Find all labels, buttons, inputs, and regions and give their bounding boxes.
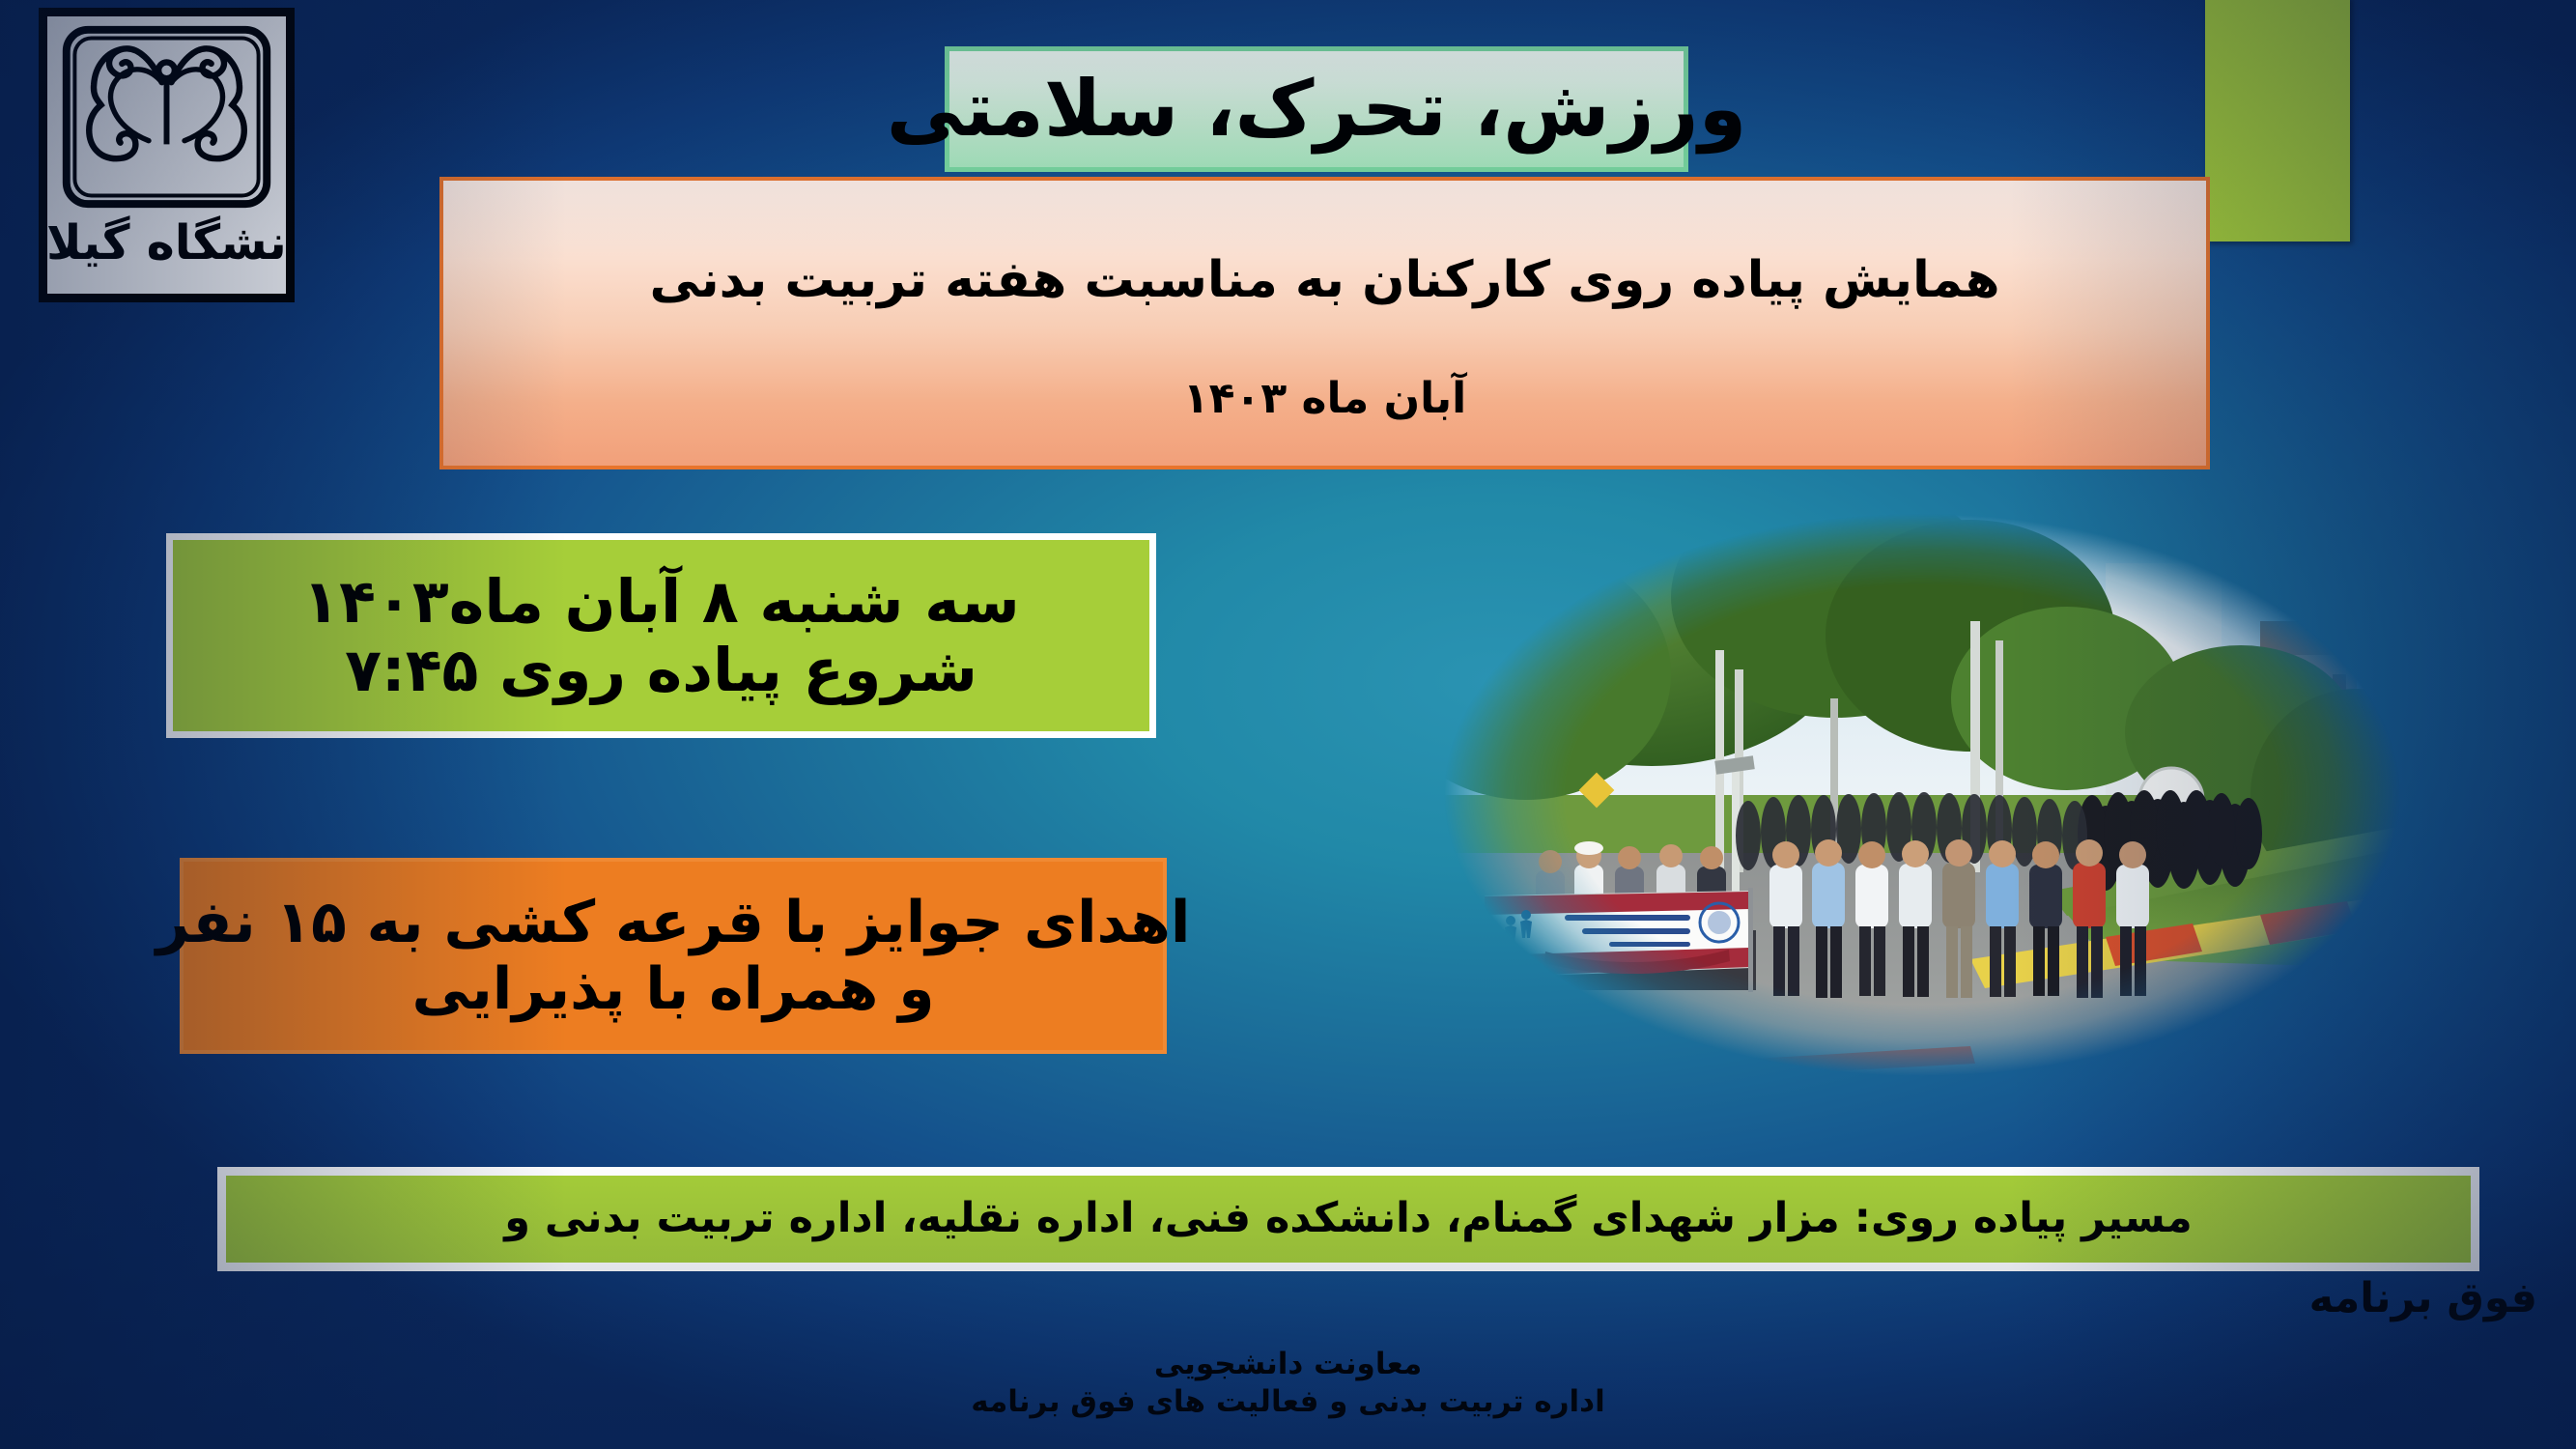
walking-rally-illustration — [1430, 505, 2415, 1085]
footer-office-line: اداره تربیت بدنی و فعالیت های فوق برنامه — [0, 1383, 2576, 1421]
headline-main-text: همایش پیاده روی کارکنان به مناسبت هفته ت… — [650, 253, 2000, 308]
logo-inner-frame: دانشگاه گیلان — [47, 16, 286, 294]
title-banner-text: ورزش، تحرک، سلامتی — [887, 71, 1747, 148]
poster-canvas: دانشگاه گیلان ورزش، تحرک، سلامتی همایش پ… — [0, 0, 2576, 1449]
footer: معاونت دانشجویی اداره تربیت بدنی و فعالی… — [0, 1346, 2576, 1421]
prize-refreshments-line: و همراه با پذیرایی — [412, 956, 935, 1023]
event-date-line: سه شنبه ۸ آبان ماه۱۴۰۳ — [302, 567, 1019, 636]
university-logo: دانشگاه گیلان — [39, 8, 295, 302]
event-start-time-line: شروع پیاده روی ۷:۴۵ — [345, 636, 977, 704]
prize-lottery-line: اهدای جوایز با قرعه کشی به ۱۵ نفر — [142, 890, 1204, 956]
route-text-overflow: فوق برنامه — [2309, 1277, 2537, 1321]
logo-wordmark: دانشگاه گیلان — [47, 214, 286, 270]
event-date-box: سه شنبه ۸ آبان ماه۱۴۰۳ شروع پیاده روی ۷:… — [166, 533, 1156, 738]
headline-box: همایش پیاده روی کارکنان به مناسبت هفته ت… — [439, 177, 2210, 469]
accent-green-rectangle — [2205, 0, 2350, 241]
route-text: مسیر پیاده روی: مزار شهدای گمنام، دانشکد… — [504, 1197, 2193, 1240]
title-banner: ورزش، تحرک، سلامتی — [945, 46, 1688, 172]
university-of-gilan-emblem-icon: دانشگاه گیلان — [47, 16, 286, 294]
headline-date-text: آبان ماه ۱۴۰۳ — [1183, 376, 1466, 422]
staff-walking-rally-photo — [1430, 505, 2415, 1085]
prize-box: اهدای جوایز با قرعه کشی به ۱۵ نفر و همرا… — [180, 858, 1167, 1054]
route-box: مسیر پیاده روی: مزار شهدای گمنام، دانشکد… — [217, 1167, 2479, 1271]
footer-deputy-line: معاونت دانشجویی — [0, 1346, 2576, 1383]
